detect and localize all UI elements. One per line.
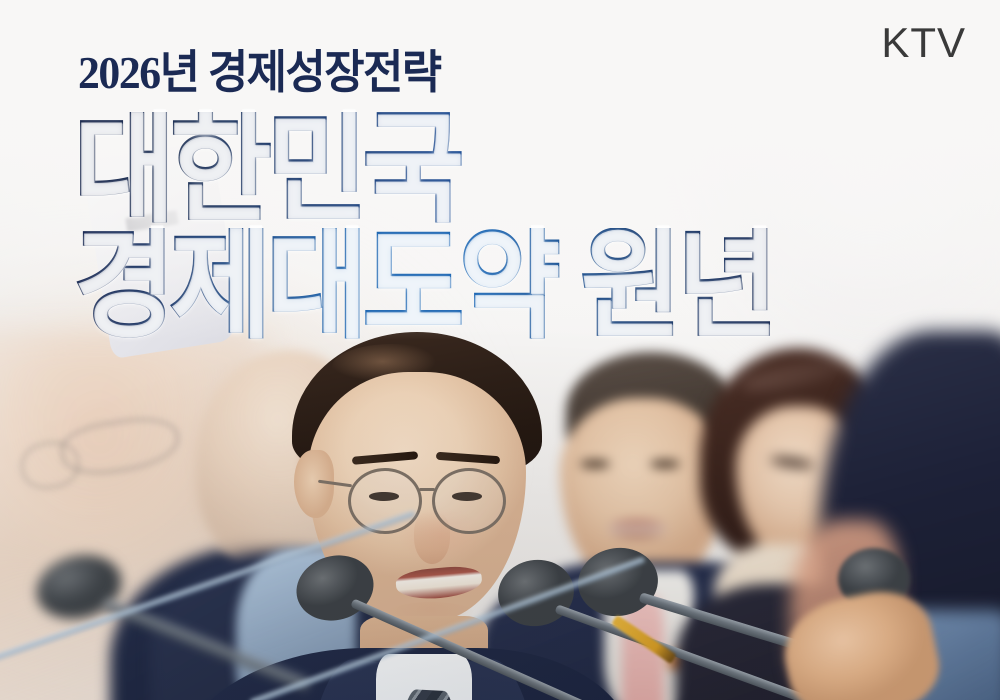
broadcast-title-card: KTV 2026년 경제성장전략 대한민국 경제대도약 원년	[0, 0, 1000, 700]
glasses-icon-bridge	[419, 488, 435, 491]
page-title-line-1: 대한민국	[74, 112, 773, 226]
kicker-text: 2026년 경제성장전략	[78, 50, 441, 96]
main-speaker-nose	[414, 512, 450, 564]
second-official-mouth	[608, 520, 666, 538]
second-official-eye-right	[650, 460, 680, 468]
ktv-logo: KTV	[881, 22, 966, 64]
page-title: 대한민국 경제대도약 원년	[74, 112, 753, 329]
page-title-line-2: 경제대도약 원년	[74, 228, 773, 342]
